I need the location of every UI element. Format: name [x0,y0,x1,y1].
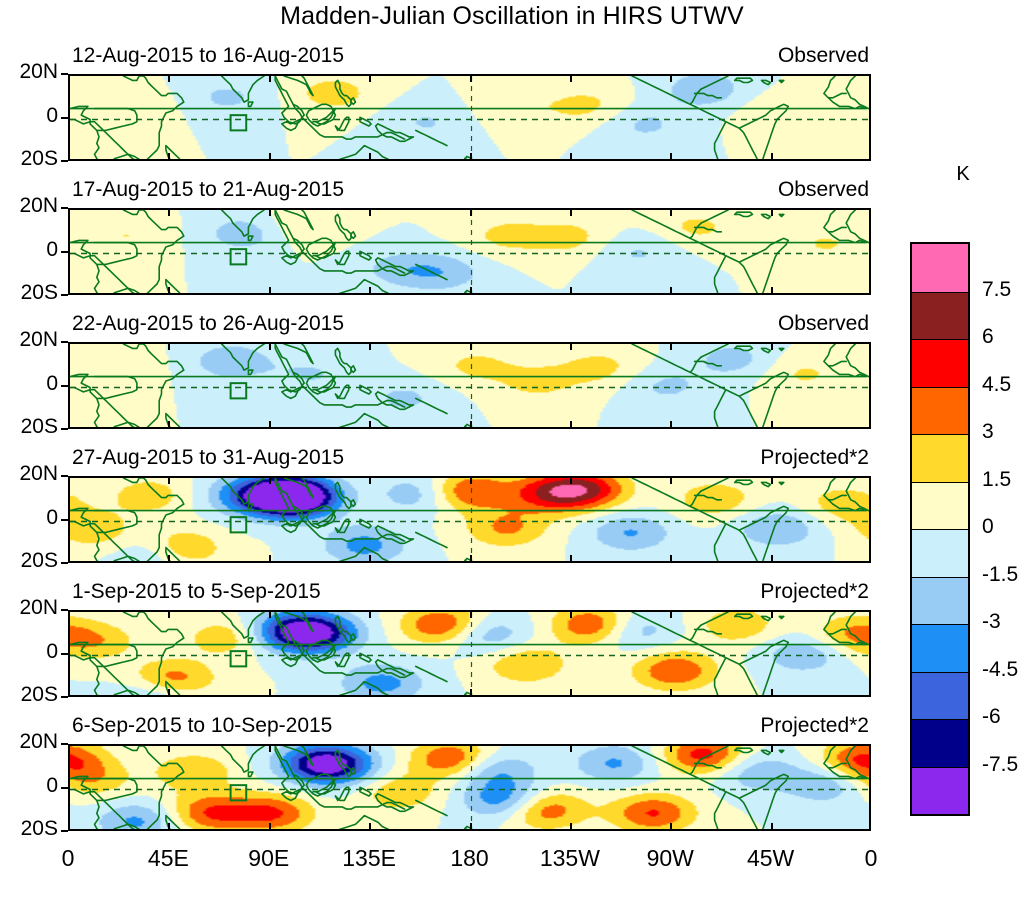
x-tick [369,153,371,159]
y-axis-label: 0 [0,104,58,128]
y-axis-label: 20N [0,328,58,352]
colorbar-tick-label: -6 [982,705,1001,729]
x-tick [168,478,170,484]
x-tick [68,612,70,618]
x-tick [869,421,871,427]
y-tick [61,475,68,477]
y-tick [61,830,68,832]
y-axis-label: 20N [0,596,58,620]
colorbar-divider [912,672,968,673]
x-tick [269,153,271,159]
x-tick [168,344,170,350]
x-tick [869,153,871,159]
colorbar-divider [912,339,968,340]
y-axis-label: 0 [0,774,58,798]
panel-plot-area [68,74,871,161]
x-tick [570,153,572,159]
map-panel-1[interactable]: 12-Aug-2015 to 16-Aug-2015Observed20N020… [68,74,871,161]
panel-title: 6-Sep-2015 to 10-Sep-2015 [72,714,332,738]
colorbar-tick-label: 6 [982,325,994,349]
y-tick [61,294,68,296]
colorbar-divider [912,624,968,625]
x-tick [470,478,472,484]
x-tick [869,612,871,618]
coastline-overlay [70,746,871,831]
panel-title: 1-Sep-2015 to 5-Sep-2015 [72,580,321,604]
x-tick [68,76,70,82]
x-tick [470,153,472,159]
panel-plot-area [68,342,871,429]
x-tick [771,746,773,752]
colorbar-band [912,482,968,530]
colorbar-divider [912,577,968,578]
colorbar-tick-label: 1.5 [982,468,1011,492]
x-tick [369,76,371,82]
x-tick [771,689,773,695]
colorbar-band [912,624,968,672]
x-tick [168,287,170,293]
x-tick [570,555,572,561]
x-tick [670,210,672,216]
panel-title: 22-Aug-2015 to 26-Aug-2015 [72,312,344,336]
region-box-marker [231,249,247,264]
x-tick [168,555,170,561]
x-tick [369,421,371,427]
x-tick [570,823,572,829]
y-tick [61,653,68,655]
y-tick [61,207,68,209]
x-tick [369,287,371,293]
colorbar[interactable] [910,242,970,816]
colorbar-band [912,672,968,720]
coastline-overlay [70,344,871,429]
x-tick [68,153,70,159]
x-tick [869,823,871,829]
x-tick [570,76,572,82]
x-tick [68,823,70,829]
x-tick [369,478,371,484]
x-tick [470,76,472,82]
x-tick [670,689,672,695]
x-tick [168,153,170,159]
colorbar-tick-label: 3 [982,420,994,444]
x-tick [670,76,672,82]
x-tick [570,344,572,350]
x-tick [670,823,672,829]
x-tick [470,612,472,618]
y-axis-label: 20N [0,194,58,218]
x-tick [68,421,70,427]
x-tick [369,689,371,695]
y-axis-label: 20S [0,817,58,841]
x-tick [771,76,773,82]
colorbar-divider [912,387,968,388]
x-tick [168,76,170,82]
colorbar-tick-label: -4.5 [982,658,1018,682]
colorbar-divider [912,434,968,435]
x-axis-label: 45W [747,845,794,872]
x-tick [771,478,773,484]
x-tick [470,344,472,350]
colorbar-divider [912,529,968,530]
colorbar-band [912,339,968,387]
colorbar-tick-label: -7.5 [982,753,1018,777]
y-axis-label: 20N [0,462,58,486]
y-tick [61,117,68,119]
panel-plot-area [68,476,871,563]
y-axis-label: 20S [0,147,58,171]
x-tick [470,210,472,216]
region-box-marker [231,383,247,398]
y-tick [61,385,68,387]
y-axis-label: 20N [0,730,58,754]
y-tick [61,562,68,564]
x-tick [369,344,371,350]
x-tick [771,421,773,427]
colorbar-tick-labels: 7.564.531.50-1.5-3-4.5-6-7.5 [982,242,1024,812]
x-tick [68,210,70,216]
region-box-marker [231,651,247,666]
x-tick [771,612,773,618]
x-tick [369,612,371,618]
figure-title: Madden-Julian Oscillation in HIRS UTWV [0,2,1024,31]
x-tick [269,612,271,618]
x-tick [869,210,871,216]
x-tick [570,478,572,484]
coastline-overlay [70,210,871,295]
colorbar-band [912,292,968,340]
colorbar-divider [912,482,968,483]
x-tick [771,287,773,293]
x-tick [269,344,271,350]
x-tick [570,421,572,427]
y-axis-label: 20S [0,415,58,439]
x-tick [869,555,871,561]
colorbar-tick-label: -3 [982,610,1001,634]
map-panel-2[interactable]: 17-Aug-2015 to 21-Aug-2015Observed20N020… [68,208,871,295]
x-tick [570,689,572,695]
x-tick [670,478,672,484]
colorbar-band [912,434,968,482]
colorbar-divider [912,719,968,720]
y-axis-label: 20S [0,683,58,707]
panel-title: 12-Aug-2015 to 16-Aug-2015 [72,44,344,68]
x-tick [168,421,170,427]
x-tick [670,612,672,618]
x-tick [869,76,871,82]
figure-root: Madden-Julian Oscillation in HIRS UTWV 1… [0,0,1024,920]
x-tick [269,823,271,829]
x-tick [269,287,271,293]
x-tick [771,153,773,159]
x-tick [168,823,170,829]
colorbar-tick-label: 4.5 [982,373,1011,397]
x-axis-label: 135E [342,845,396,872]
x-tick [269,421,271,427]
colorbar-band [912,387,968,435]
panel-kind-label: Projected*2 [760,714,869,738]
x-tick [470,287,472,293]
colorbar-unit-label: K [933,163,993,186]
x-tick [670,153,672,159]
x-tick [470,689,472,695]
coastline-overlay [70,478,871,563]
colorbar-tick-label: 7.5 [982,278,1011,302]
colorbar-band [912,767,968,815]
map-panel-6[interactable]: 6-Sep-2015 to 10-Sep-2015Projected*220N0… [68,744,871,831]
x-tick [168,612,170,618]
x-tick [869,689,871,695]
colorbar-band [912,244,968,292]
region-box-marker [231,517,247,532]
x-tick [68,746,70,752]
colorbar-tick-label: -1.5 [982,563,1018,587]
y-tick [61,696,68,698]
x-tick [269,689,271,695]
colorbar-band [912,529,968,577]
panel-plot-area [68,208,871,295]
coastline-overlay [70,76,871,161]
y-tick [61,609,68,611]
y-tick [61,73,68,75]
x-tick [670,287,672,293]
map-panel-3[interactable]: 22-Aug-2015 to 26-Aug-2015Observed20N020… [68,342,871,429]
x-axis-label: 0 [865,845,878,872]
panel-plot-area [68,744,871,831]
y-tick [61,428,68,430]
x-tick [670,746,672,752]
panel-kind-label: Projected*2 [760,580,869,604]
map-panel-5[interactable]: 1-Sep-2015 to 5-Sep-2015Projected*220N02… [68,610,871,697]
colorbar-band [912,719,968,767]
x-tick [168,210,170,216]
y-axis-label: 0 [0,238,58,262]
colorbar-divider [912,292,968,293]
x-tick [869,344,871,350]
panel-kind-label: Observed [778,312,869,336]
x-tick [570,287,572,293]
x-tick [269,210,271,216]
panel-plot-area [68,610,871,697]
x-axis-label: 180 [450,845,488,872]
x-tick [771,555,773,561]
x-tick [68,478,70,484]
x-axis-label: 90W [647,845,694,872]
panel-kind-label: Observed [778,44,869,68]
y-tick [61,519,68,521]
y-tick [61,160,68,162]
y-tick [61,341,68,343]
panel-title: 17-Aug-2015 to 21-Aug-2015 [72,178,344,202]
x-tick [570,612,572,618]
x-tick [869,287,871,293]
colorbar-divider [912,767,968,768]
x-axis-label: 90E [248,845,289,872]
x-tick [269,746,271,752]
x-tick [369,823,371,829]
x-tick [470,555,472,561]
x-tick [269,555,271,561]
y-axis-label: 0 [0,372,58,396]
x-tick [670,344,672,350]
coastline-overlay [70,612,871,697]
y-tick [61,787,68,789]
x-tick [369,746,371,752]
y-axis-label: 20S [0,281,58,305]
region-box-marker [231,785,247,800]
x-tick [670,555,672,561]
x-tick [68,287,70,293]
x-tick [869,746,871,752]
y-axis-label: 20S [0,549,58,573]
y-tick [61,251,68,253]
x-axis-label: 135W [540,845,600,872]
x-tick [771,344,773,350]
y-axis-label: 20N [0,60,58,84]
x-tick [670,421,672,427]
x-tick [68,555,70,561]
x-tick [470,823,472,829]
y-axis-label: 0 [0,506,58,530]
region-box-marker [231,115,247,130]
x-tick [570,746,572,752]
x-tick [369,555,371,561]
x-tick [470,746,472,752]
x-tick [369,210,371,216]
x-tick [269,478,271,484]
x-tick [570,210,572,216]
colorbar-band [912,577,968,625]
panel-kind-label: Projected*2 [760,446,869,470]
x-tick [771,210,773,216]
x-tick [771,823,773,829]
x-tick [68,689,70,695]
colorbar-tick-label: 0 [982,515,994,539]
x-axis-label: 45E [148,845,189,872]
x-tick [470,421,472,427]
panel-kind-label: Observed [778,178,869,202]
panel-title: 27-Aug-2015 to 31-Aug-2015 [72,446,344,470]
x-tick [869,478,871,484]
x-axis-label: 0 [62,845,75,872]
y-axis-label: 0 [0,640,58,664]
x-tick [68,344,70,350]
y-tick [61,743,68,745]
map-panel-4[interactable]: 27-Aug-2015 to 31-Aug-2015Projected*220N… [68,476,871,563]
x-tick [269,76,271,82]
x-tick [168,689,170,695]
x-tick [168,746,170,752]
